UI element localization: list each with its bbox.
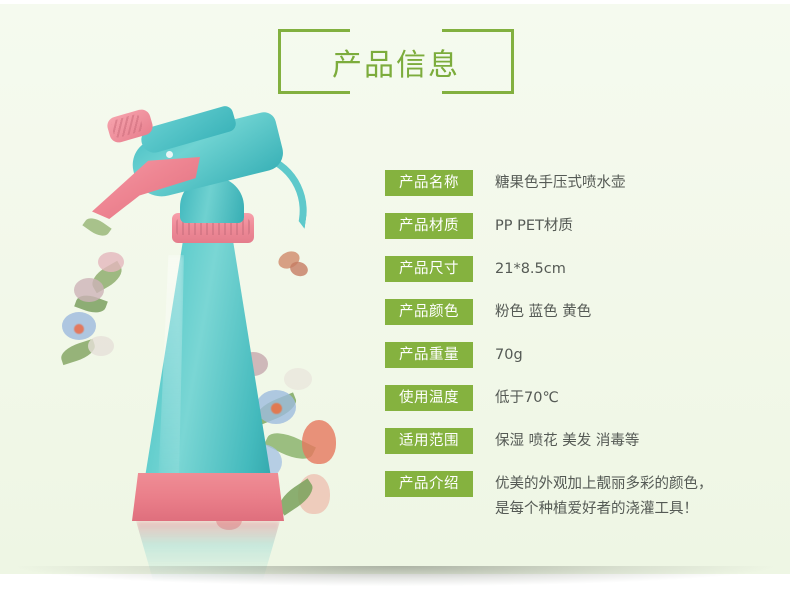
- spec-row: 产品重量 70g: [385, 342, 755, 385]
- spec-label-temperature: 使用温度: [385, 385, 473, 411]
- spec-label-description: 产品介绍: [385, 471, 473, 497]
- spec-value-color: 粉色 蓝色 黄色: [495, 299, 591, 325]
- page-title-box: 产品信息: [278, 29, 514, 94]
- spec-value-description: 优美的外观加上靓丽多彩的颜色， 是每个种植爱好者的浇灌工具！: [495, 471, 713, 522]
- spec-value-weight: 70g: [495, 342, 523, 368]
- spec-label-material: 产品材质: [385, 213, 473, 239]
- spec-row: 使用温度 低于70℃: [385, 385, 755, 428]
- spec-table: 产品名称 糖果色手压式喷水壶 产品材质 PP PET材质 产品尺寸 21*8.5…: [385, 170, 755, 531]
- spec-row: 产品介绍 优美的外观加上靓丽多彩的颜色， 是每个种植爱好者的浇灌工具！: [385, 471, 755, 531]
- spec-row: 产品颜色 粉色 蓝色 黄色: [385, 299, 755, 342]
- spec-row: 产品尺寸 21*8.5cm: [385, 256, 755, 299]
- spec-label-weight: 产品重量: [385, 342, 473, 368]
- bottle-reflection: [136, 521, 280, 581]
- page-bottom-margin: [0, 592, 790, 616]
- spec-value-temperature: 低于70℃: [495, 385, 559, 411]
- sprayer-pivot-dot: [166, 151, 173, 158]
- product-image: [40, 100, 370, 570]
- spray-bottle: [80, 105, 340, 555]
- spec-row: 产品材质 PP PET材质: [385, 213, 755, 256]
- spec-value-material: PP PET材质: [495, 213, 573, 239]
- spec-row: 产品名称 糖果色手压式喷水壶: [385, 170, 755, 213]
- bottle-base-band: [132, 473, 284, 521]
- spec-label-usage-scope: 适用范围: [385, 428, 473, 454]
- page-title: 产品信息: [278, 29, 514, 94]
- product-info-page: 产品信息: [0, 0, 790, 616]
- spec-value-usage-scope: 保湿 喷花 美发 消毒等: [495, 428, 639, 454]
- spec-label-product-name: 产品名称: [385, 170, 473, 196]
- spec-value-size: 21*8.5cm: [495, 256, 566, 282]
- spec-label-size: 产品尺寸: [385, 256, 473, 282]
- spec-label-color: 产品颜色: [385, 299, 473, 325]
- spec-row: 适用范围 保湿 喷花 美发 消毒等: [385, 428, 755, 471]
- spec-value-product-name: 糖果色手压式喷水壶: [495, 170, 626, 196]
